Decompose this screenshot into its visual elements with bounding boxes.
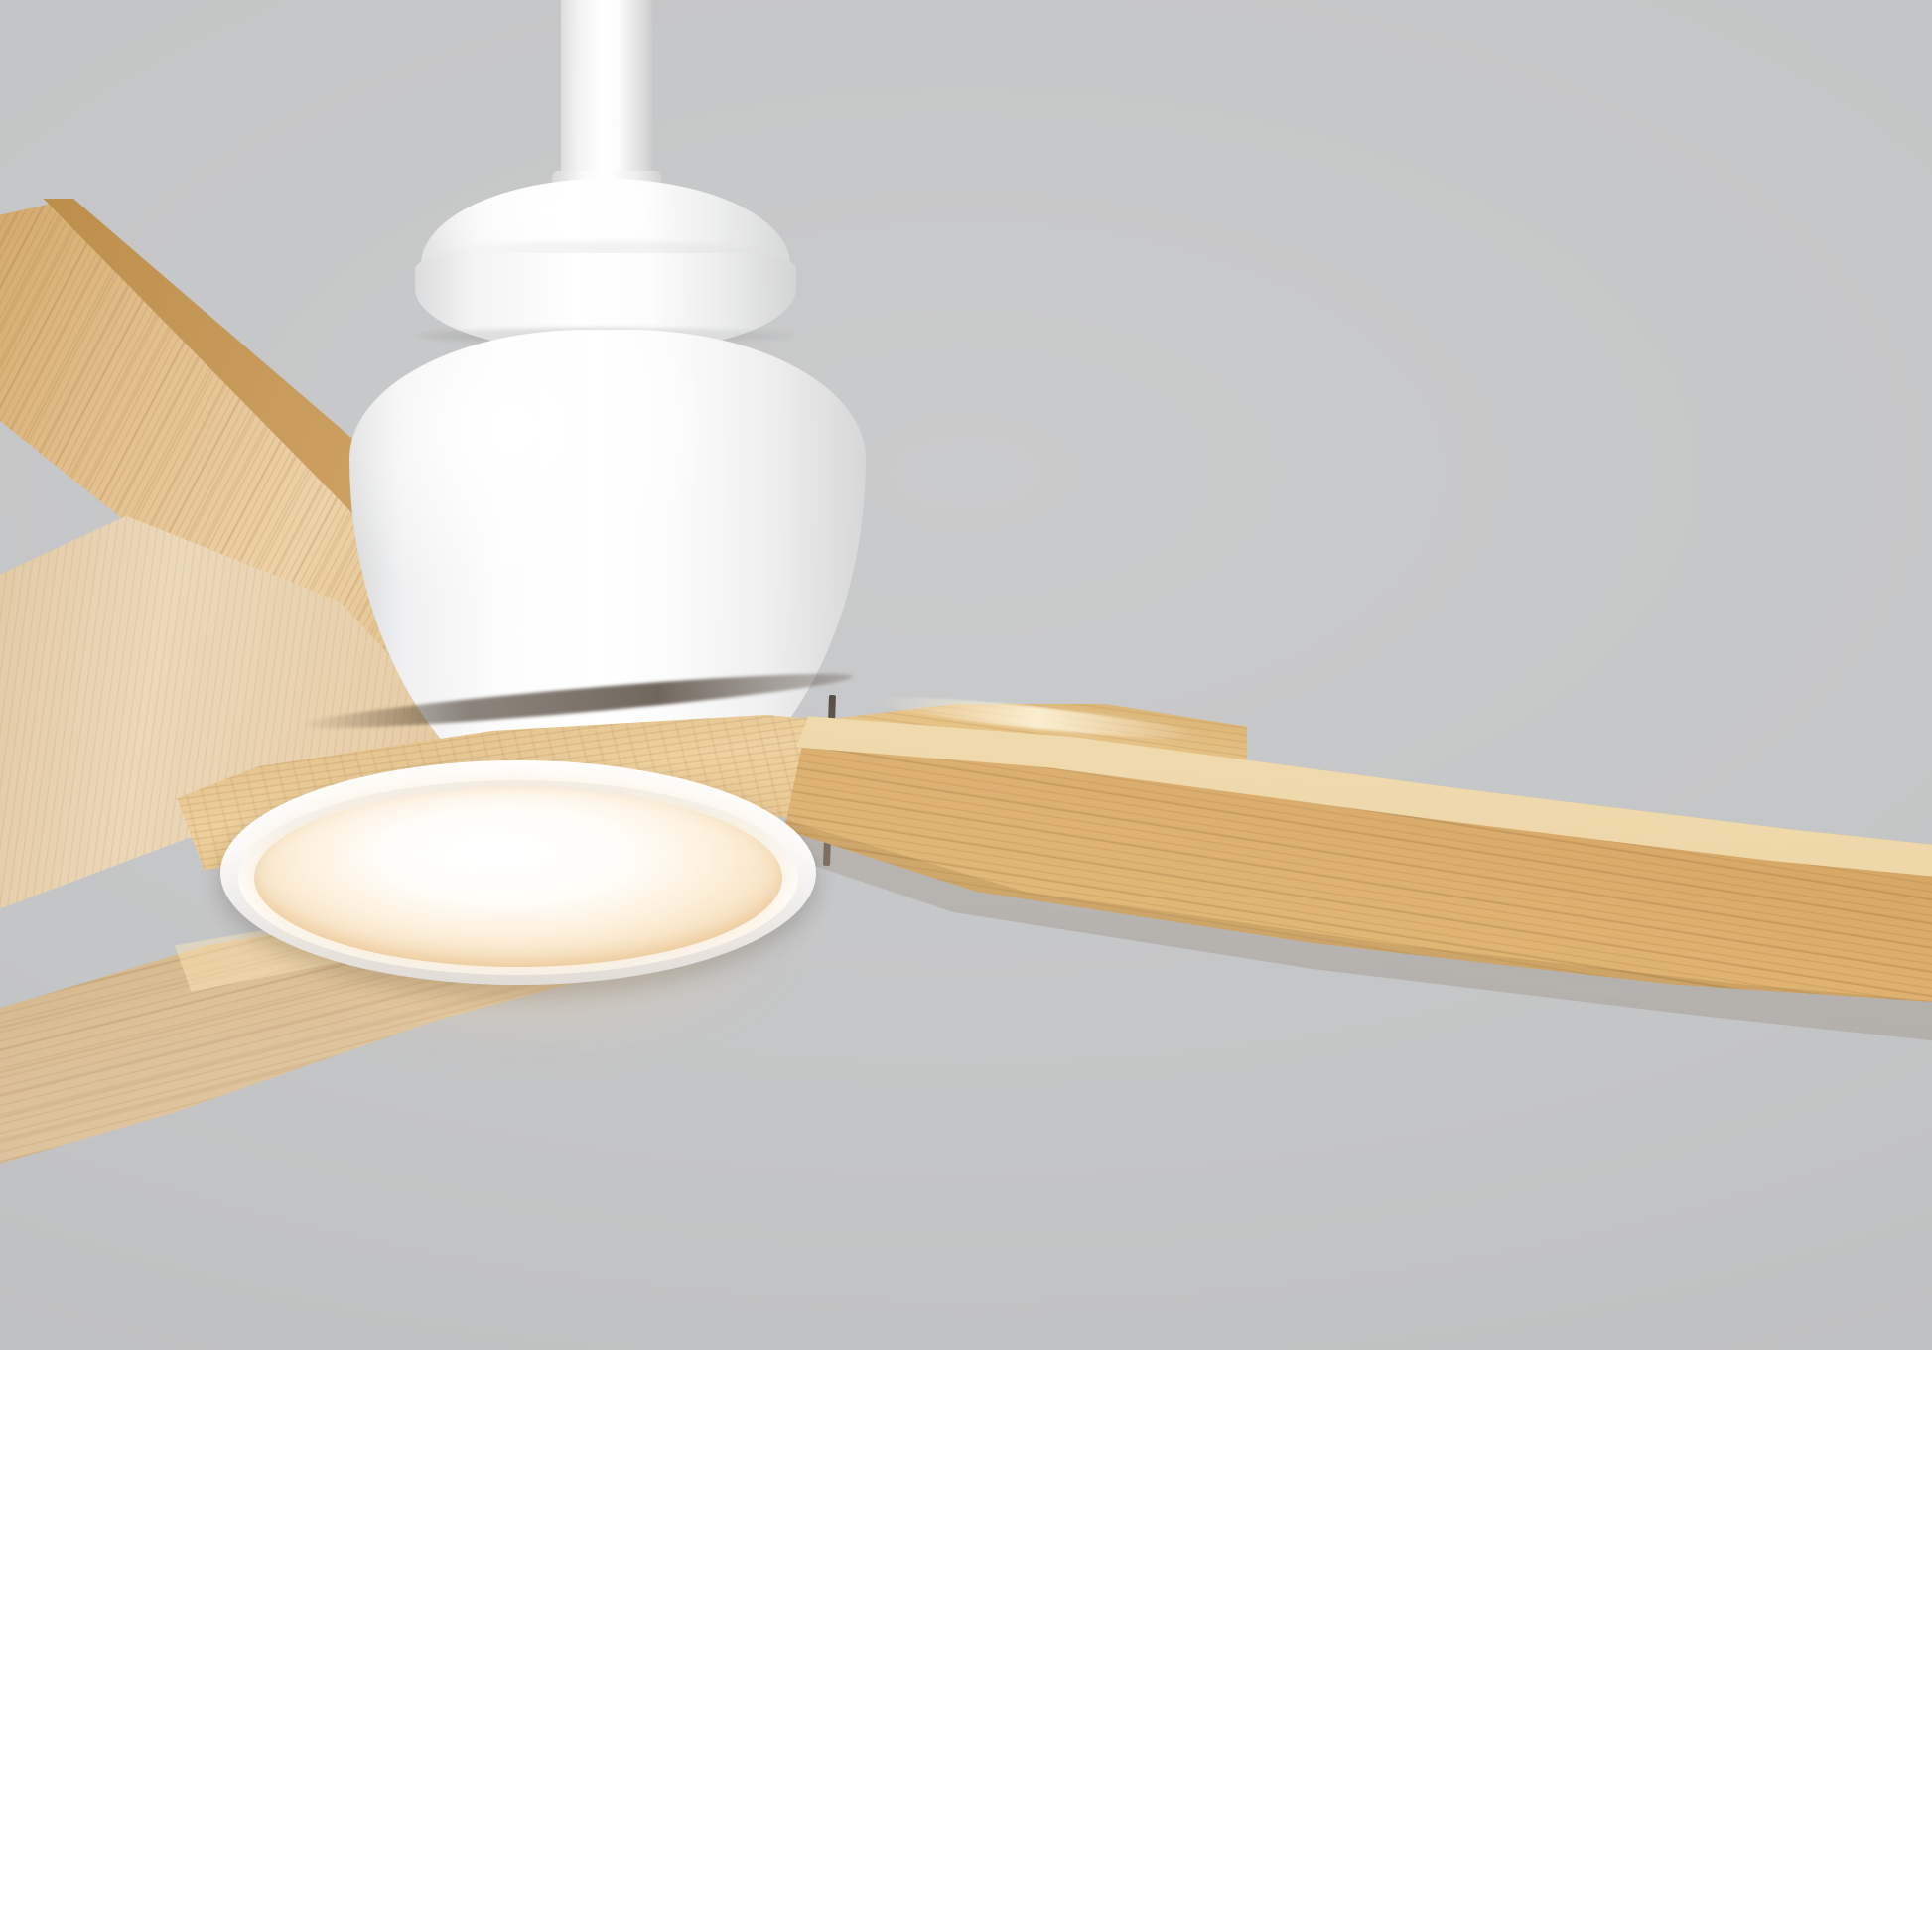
- product-photo: [0, 0, 1932, 1350]
- product-image-page: Ceiling Fan Blades · 18W · Easy to Insta…: [0, 0, 1932, 1932]
- product-info-panel: Ceiling Fan Blades · 18W · Easy to Insta…: [0, 1350, 1932, 1932]
- led-light-hotspot: [328, 806, 645, 897]
